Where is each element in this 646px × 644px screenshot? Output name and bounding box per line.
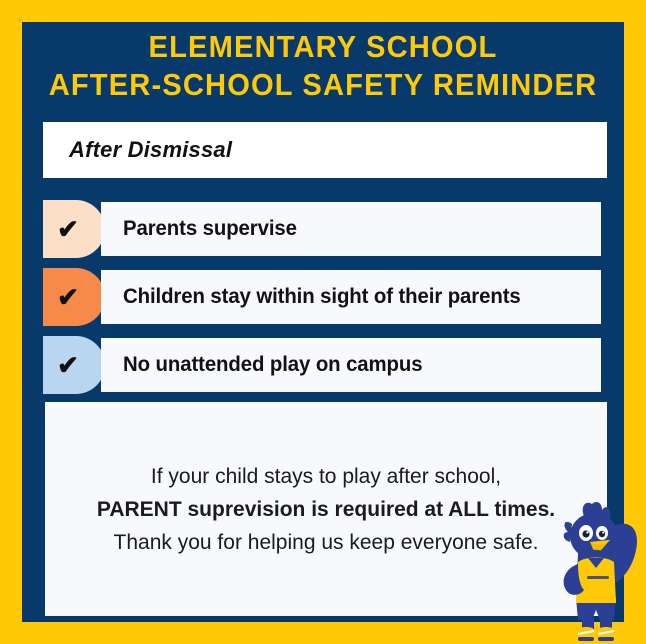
footer-line-1: If your child stays to play after school… — [151, 460, 501, 493]
checklist-row-3[interactable]: ✔ No unattended play on campus — [43, 336, 623, 394]
checklist-label-box-1: Parents supervise — [101, 202, 601, 256]
check-icon: ✔ — [57, 216, 79, 242]
title-line-2: AFTER-SCHOOL SAFETY REMINDER — [40, 66, 606, 104]
checkbox-2[interactable]: ✔ — [43, 268, 105, 326]
subtitle-bar: After Dismissal — [43, 122, 607, 178]
checklist-label-3: No unattended play on campus — [123, 353, 422, 377]
checklist-label-box-3: No unattended play on campus — [101, 338, 601, 392]
footer-note-panel: If your child stays to play after school… — [45, 402, 607, 616]
checklist-label-box-2: Children stay within sight of their pare… — [101, 270, 601, 324]
checklist-label-2: Children stay within sight of their pare… — [123, 285, 521, 309]
checklist-row-1[interactable]: ✔ Parents supervise — [43, 200, 623, 258]
footer-line-3: Thank you for helping us keep everyone s… — [114, 526, 539, 559]
check-icon: ✔ — [57, 352, 79, 378]
checklist-row-2[interactable]: ✔ Children stay within sight of their pa… — [43, 268, 623, 326]
poster-title: ELEMENTARY SCHOOL AFTER-SCHOOL SAFETY RE… — [22, 28, 624, 104]
subtitle-text: After Dismissal — [69, 137, 232, 163]
title-line-1: ELEMENTARY SCHOOL — [40, 28, 606, 66]
checklist: ✔ Parents supervise ✔ Children stay with… — [43, 200, 623, 404]
checkbox-1[interactable]: ✔ — [43, 200, 105, 258]
poster-inner-panel: ELEMENTARY SCHOOL AFTER-SCHOOL SAFETY RE… — [22, 22, 624, 622]
footer-line-2: PARENT suprevision is required at ALL ti… — [97, 493, 555, 526]
safety-reminder-poster: ELEMENTARY SCHOOL AFTER-SCHOOL SAFETY RE… — [0, 0, 646, 644]
checklist-label-1: Parents supervise — [123, 217, 297, 241]
check-icon: ✔ — [57, 284, 79, 310]
checkbox-3[interactable]: ✔ — [43, 336, 105, 394]
